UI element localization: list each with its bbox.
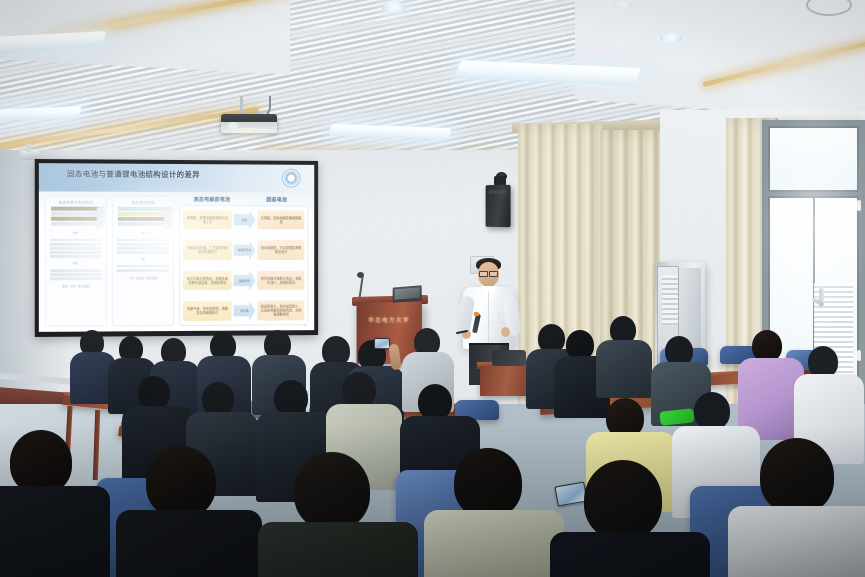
cell-layer — [51, 222, 101, 226]
column-header-liquid: 液态电解质电池 — [179, 196, 244, 203]
down-arrow-icon — [73, 262, 79, 265]
module-bar-stack — [117, 265, 169, 272]
podium-microphone-head — [357, 272, 364, 278]
row-arrow-label: 集成方式 — [233, 270, 255, 290]
microphone-band — [474, 312, 480, 317]
cell-layer — [118, 217, 168, 221]
row-arrow-label: 安全性 — [233, 301, 255, 321]
module-bar — [50, 273, 102, 276]
screen-roller-pin — [26, 143, 31, 152]
comparison-row: 内部气体、热失控风险，需要复杂热管理设计 安全性 能量密度大，热失控风险小，无液… — [183, 299, 305, 322]
cell-side-face — [164, 205, 172, 230]
presenter-shirt-placket — [488, 292, 489, 342]
window-transom-pane — [768, 126, 859, 192]
presentation-slide: 固态电池与普通锂电池结构设计的差异 普通锂离子电池结构 — [39, 163, 314, 332]
comparison-table: 液态电解质电池 固态电池 有隔膜，需要电解液浸润与注液工艺 隔膜 无隔膜，固体电… — [179, 196, 308, 326]
ceiling-flat-panel-right — [575, 0, 865, 120]
down-arrow-icon — [140, 258, 146, 261]
row-left-cell: 有隔膜，需要电解液浸润与注液工艺 — [183, 210, 231, 229]
slide-body: 普通锂离子电池结构 — [44, 195, 308, 327]
row-arrow-label: 隔膜 — [233, 210, 255, 230]
diagram-panel-caption: 叠片 全固态 电芯结构 — [115, 276, 171, 280]
audience-head — [454, 448, 522, 518]
cell-side-face — [97, 205, 105, 230]
row-right-cell: 固体电解质，可实现叠层串联集成设计 — [257, 240, 305, 259]
electrode-bar — [117, 251, 169, 254]
row-right-cell: 电芯内部可串联大电压，零部件减少，成组效率高 — [257, 271, 305, 290]
cell-layer — [118, 222, 168, 226]
row-right-cell: 能量密度大，热失控风险小，无液态电解质燃烧风险，对热管理要求低 — [257, 301, 305, 320]
audience-head — [342, 372, 376, 408]
diagram-panel-liquid: 普通锂离子电池结构 — [44, 195, 106, 327]
electrode-bar — [50, 239, 102, 242]
electrode-bar-stack — [117, 239, 169, 254]
row-arrow-label: 电解质形态 — [233, 240, 255, 260]
podium-laptop — [392, 285, 421, 302]
lecture-hall-photo: 固态电池与普通锂电池结构设计的差异 普通锂离子电池结构 — [0, 0, 865, 577]
electrode-bar — [117, 243, 169, 246]
column-header-solid: 固态电池 — [244, 196, 308, 203]
slide-title: 固态电池与普通锂电池结构设计的差异 — [67, 168, 200, 180]
cell-layer — [118, 207, 168, 211]
electrode-bar — [50, 247, 102, 250]
podium-university-name: 华北电力大学 — [368, 316, 410, 324]
presenter-right-hand — [501, 327, 510, 337]
audience-head — [146, 446, 216, 518]
projection-screen: 固态电池与普通锂电池结构设计的差异 普通锂离子电池结构 — [35, 159, 318, 337]
audience-head — [694, 392, 730, 430]
electrode-bar-stack — [50, 239, 102, 259]
window-latch-handle[interactable] — [819, 288, 824, 308]
window-hinge — [857, 200, 861, 211]
diagram-panel-solid: 固态电池结构 — [112, 195, 174, 326]
audience-torso — [424, 510, 564, 577]
electrode-bar — [50, 256, 102, 259]
down-arrow-icon — [140, 232, 146, 235]
audience-head — [202, 382, 234, 416]
phone-screen — [375, 339, 388, 347]
comparison-row: 电解液易泄漏，工艺需密封封装与防漏设计 电解质形态 固体电解质，可实现叠层串联集… — [183, 239, 305, 262]
ceiling-downlight — [614, 1, 632, 9]
down-arrow-icon — [73, 232, 79, 235]
audience-head — [274, 380, 308, 416]
battery-cell-stack — [51, 206, 101, 228]
cell-layer — [51, 217, 101, 221]
battery-cell-stack — [118, 207, 168, 229]
ac-grill — [662, 275, 678, 325]
window-hinge — [857, 350, 861, 361]
slide-page-number: 5 — [304, 323, 306, 327]
ceiling-downlight — [382, 2, 406, 13]
audience-torso — [728, 506, 865, 577]
audience-head — [584, 460, 662, 540]
comparison-headers: 液态电解质电池 固态电池 — [179, 196, 308, 203]
screen-surface: 固态电池与普通锂电池结构设计的差异 普通锂离子电池结构 — [39, 163, 314, 332]
module-bar-stack — [50, 269, 102, 280]
electrode-bar — [117, 239, 169, 242]
audience-head — [294, 452, 370, 530]
electrode-bar — [50, 243, 102, 246]
wall-speaker — [486, 185, 511, 227]
module-bar — [50, 278, 102, 281]
row-left-cell: 电芯不能无限叠加，需要多串并联外部连接，成组效率低 — [183, 271, 231, 290]
diagram-panel-caption: 卷绕 / 叠片 电芯结构 — [48, 284, 104, 288]
bag-on-table — [492, 350, 526, 366]
row-right-cell: 无隔膜，固体电解质兼做隔离层 — [257, 210, 305, 229]
electrode-bar — [117, 247, 169, 250]
diagram-panel-title: 固态电池结构 — [115, 199, 171, 204]
module-bar — [50, 269, 102, 272]
projector-light-glow — [210, 128, 290, 144]
audience-torso — [258, 522, 418, 577]
cell-layer — [118, 212, 168, 216]
audience-head — [760, 438, 834, 514]
electrode-bar — [50, 251, 102, 254]
comparison-rows: 有隔膜，需要电解液浸润与注液工艺 隔膜 无隔膜，固体电解质兼做隔离层 电解液易泄… — [179, 205, 308, 326]
row-left-cell: 内部气体、热失控风险，需要复杂热管理设计 — [183, 301, 231, 321]
audience-torso — [550, 532, 710, 577]
module-bar — [117, 269, 169, 272]
audience-torso — [0, 486, 110, 577]
comparison-row: 电芯不能无限叠加，需要多串并联外部连接，成组效率低 集成方式 电芯内部可串联大电… — [183, 269, 305, 292]
module-bar — [117, 265, 169, 268]
audience-torso — [596, 340, 652, 398]
eyeglasses-icon — [479, 271, 498, 275]
audience-head — [10, 430, 72, 494]
cell-layer — [51, 212, 101, 216]
smartphone[interactable] — [374, 338, 390, 349]
ceiling-downlight — [660, 33, 682, 43]
row-left-cell: 电解液易泄漏，工艺需密封封装与防漏设计 — [183, 240, 231, 259]
comparison-row: 有隔膜，需要电解液浸润与注液工艺 隔膜 无隔膜，固体电解质兼做隔离层 — [183, 208, 305, 231]
cell-layer — [51, 206, 101, 210]
audience-head — [138, 376, 170, 410]
audience-head — [418, 384, 452, 420]
diagram-panel-title: 普通锂离子电池结构 — [48, 199, 104, 204]
phone-screen — [556, 483, 586, 505]
audience-torso — [116, 510, 262, 577]
